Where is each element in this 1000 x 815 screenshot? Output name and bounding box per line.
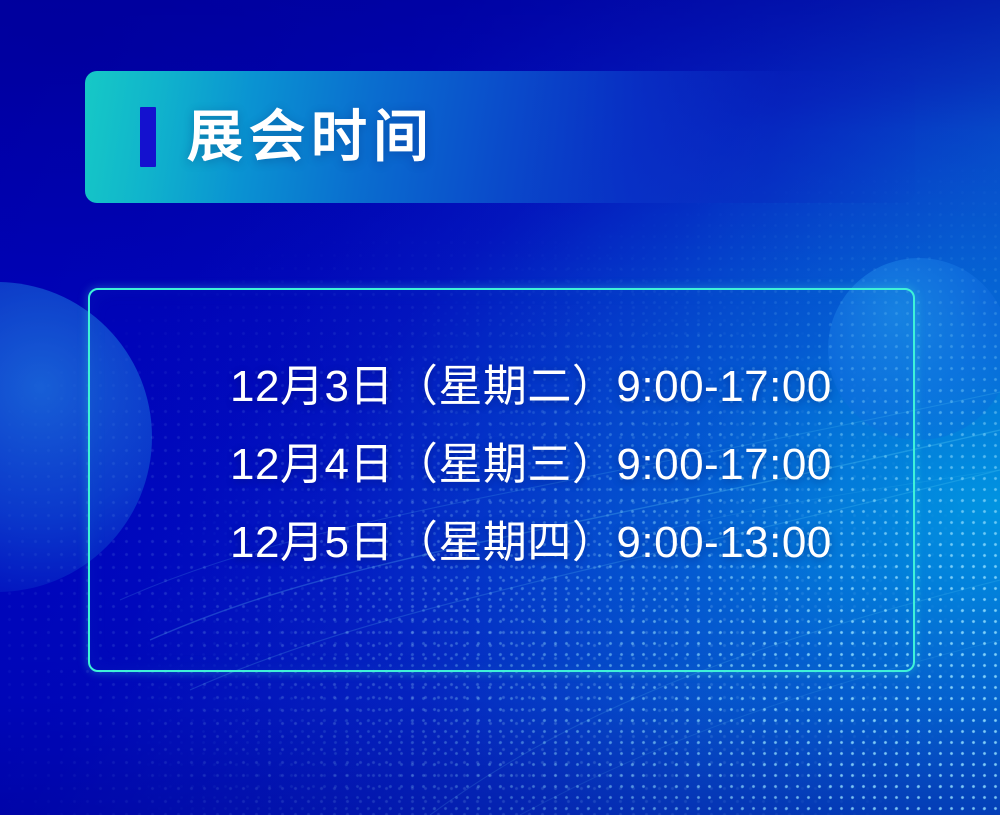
accent-bar-icon	[140, 107, 156, 167]
schedule-list: 12月3日（星期二）9:00-17:00 12月4日（星期三）9:00-17:0…	[230, 348, 832, 582]
page-title: 展会时间	[187, 109, 435, 165]
header-content: 展会时间	[85, 71, 915, 203]
schedule-row: 12月4日（星期三）9:00-17:00	[230, 426, 832, 504]
header-banner: 展会时间	[85, 71, 915, 203]
schedule-row: 12月5日（星期四）9:00-13:00	[230, 504, 832, 582]
schedule-row: 12月3日（星期二）9:00-17:00	[230, 348, 832, 426]
poster-canvas: 展会时间 12月3日（星期二）9:00-17:00 12月4日（星期三）9:00…	[0, 0, 1000, 815]
schedule-frame: 12月3日（星期二）9:00-17:00 12月4日（星期三）9:00-17:0…	[88, 288, 915, 672]
